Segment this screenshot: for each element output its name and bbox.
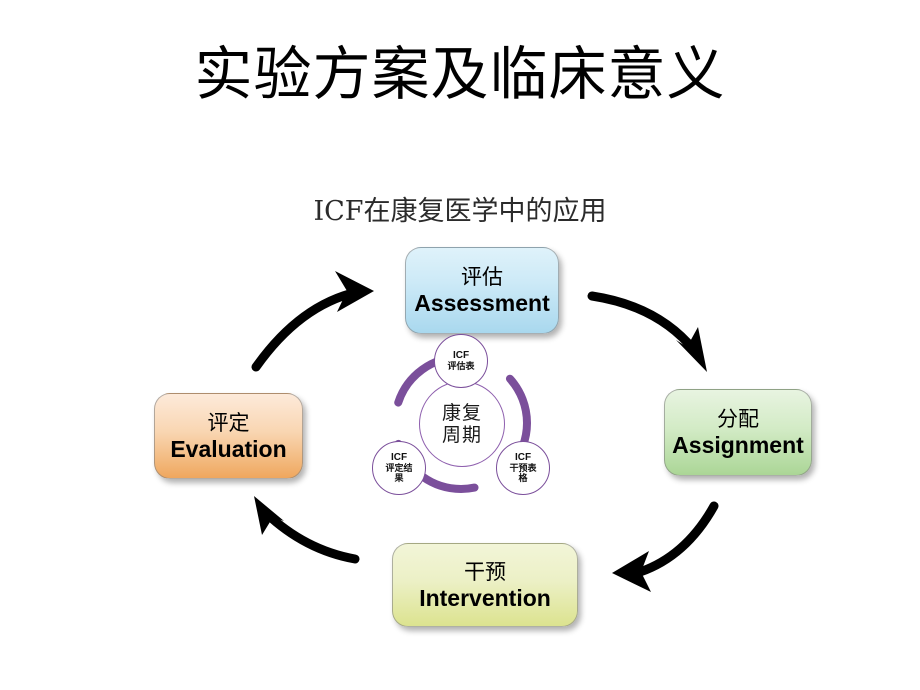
bubble-icf-evaluation-result[interactable]: ICF 评定结 果: [372, 441, 426, 495]
node-evaluation-label-cn: 评定: [208, 410, 250, 436]
arrow-assignment-to-intervention: [612, 506, 714, 592]
bubble-icf-intervention-form[interactable]: ICF 干预表 格: [496, 441, 550, 495]
arrow-intervention-to-evaluation: [254, 496, 355, 559]
bubble-intervene-icf: ICF: [515, 452, 531, 464]
arrow-evaluation-to-assessment: [256, 271, 374, 367]
bubble-assess-icf: ICF: [453, 350, 469, 362]
node-intervention[interactable]: 干预 Intervention: [392, 543, 578, 627]
node-assessment-label-cn: 评估: [461, 264, 503, 290]
arrow-assessment-to-assignment: [592, 296, 707, 372]
node-intervention-label-cn: 干预: [464, 559, 506, 585]
node-evaluation[interactable]: 评定 Evaluation: [154, 393, 303, 479]
rehab-cycle: 康复 周期 ICF 评估表 ICF 干预表 格 ICF 评定结 果: [376, 338, 546, 508]
node-intervention-label-en: Intervention: [419, 585, 551, 612]
node-assessment-label-en: Assessment: [414, 290, 550, 317]
bubble-icf-assessment-form[interactable]: ICF 评估表: [434, 334, 488, 388]
node-assignment-label-cn: 分配: [717, 406, 759, 432]
cycle-diagram: 评估 Assessment 分配 Assignment 干预 Intervent…: [0, 0, 920, 690]
bubble-intervene-label-line1: 干预表: [503, 464, 543, 475]
cycle-center-line1: 康复: [442, 402, 482, 424]
slide-canvas: 实验方案及临床意义 ICF在康复医学中的应用: [0, 0, 920, 690]
node-assessment[interactable]: 评估 Assessment: [405, 247, 559, 334]
bubble-assess-label: 评估表: [441, 362, 481, 373]
cycle-center-label: 康复 周期: [419, 381, 505, 467]
bubble-evaluate-label-line2: 果: [379, 474, 419, 485]
node-assignment[interactable]: 分配 Assignment: [664, 389, 812, 476]
node-assignment-label-en: Assignment: [672, 432, 804, 459]
cycle-center-line2: 周期: [442, 424, 482, 446]
node-evaluation-label-en: Evaluation: [170, 436, 286, 463]
bubble-intervene-label-line2: 格: [503, 474, 543, 485]
bubble-evaluate-label-line1: 评定结: [379, 464, 419, 475]
bubble-evaluate-icf: ICF: [391, 452, 407, 464]
